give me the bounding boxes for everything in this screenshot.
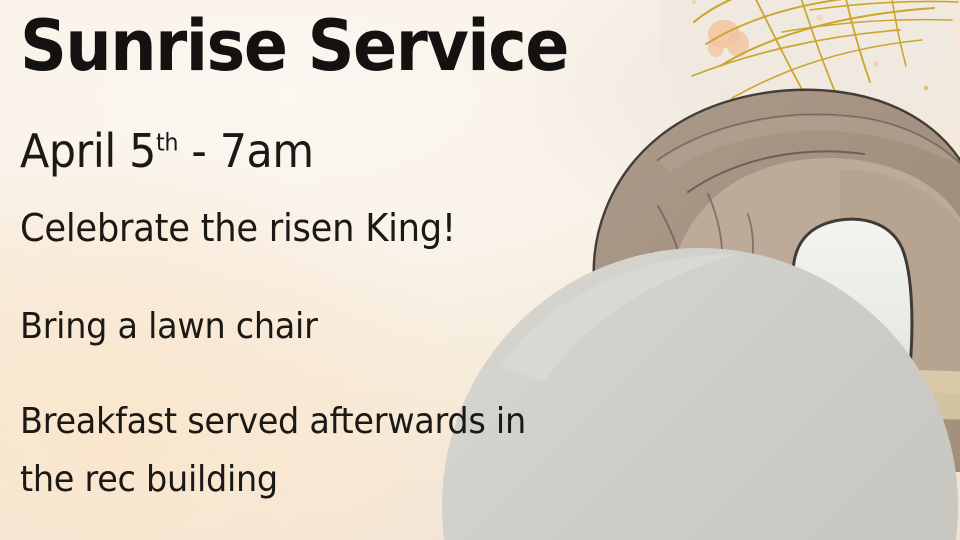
event-date-time: April 5th - 7am: [20, 124, 314, 178]
date-day: 5: [129, 124, 156, 178]
date-prefix: April: [20, 124, 129, 178]
celebrate-tagline: Celebrate the risen King!: [20, 205, 456, 251]
page-title: Sunrise Service: [20, 6, 568, 86]
breakfast-note-line2: the rec building: [20, 458, 278, 502]
date-ordinal-suffix: th: [156, 129, 178, 157]
breakfast-note-line1: Breakfast served afterwards in: [20, 400, 526, 444]
date-time-suffix: - 7am: [178, 124, 314, 178]
poster-text-column: Sunrise Service April 5th - 7am Celebrat…: [18, 0, 618, 540]
bring-chair-note: Bring a lawn chair: [20, 305, 318, 349]
sunrise-service-poster: Sunrise Service April 5th - 7am Celebrat…: [0, 0, 960, 540]
